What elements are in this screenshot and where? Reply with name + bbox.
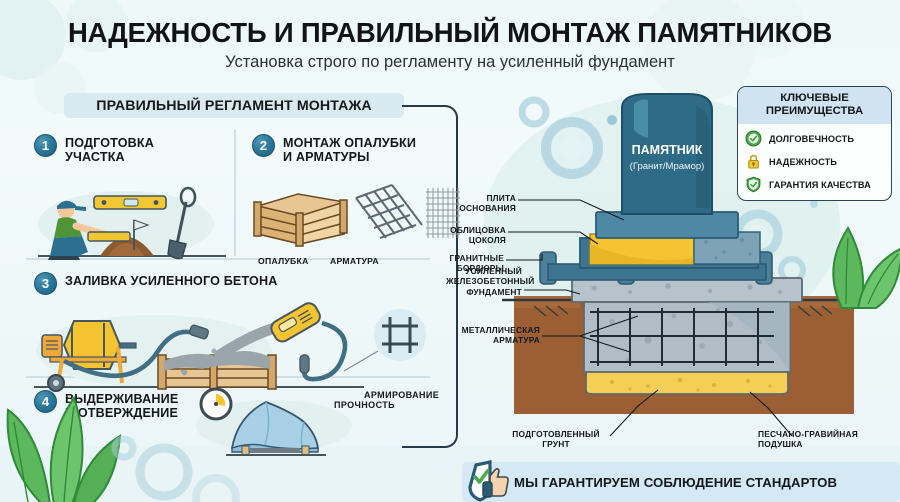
- step-2-caption-1: АРМАТУРА: [330, 256, 379, 266]
- shield-thumbsup-icon: [466, 460, 512, 502]
- left-panel: ПРАВИЛЬНЫЙ РЕГЛАМЕНТ МОНТАЖА 1 ПОДГОТОВК…: [12, 86, 460, 486]
- step-3-head: 3 ЗАЛИВКА УСИЛЕННОГО БЕТОНА: [34, 272, 434, 295]
- step-2-title: МОНТАЖ ОПАЛУБКИ И АРМАТУРЫ: [283, 134, 416, 164]
- left-panel-header: ПРАВИЛЬНЫЙ РЕГЛАМЕНТ МОНТАЖА: [64, 93, 404, 118]
- guarantee-banner: МЫ ГАРАНТИРУЕМ СОБЛЮДЕНИЕ СТАНДАРТОВ: [462, 462, 900, 502]
- lock-icon: [745, 153, 762, 170]
- benefit-item-quality-guarantee: ГАРАНТИЯ КАЧЕСТВА: [745, 176, 884, 193]
- guarantee-banner-text: МЫ ГАРАНТИРУЕМ СОБЛЮДЕНИЕ СТАНДАРТОВ: [514, 475, 837, 490]
- key-benefits-list: ДОЛГОВЕЧНОСТЬ НАДЕЖНОСТЬ: [738, 124, 891, 200]
- check-circle-icon: [745, 130, 762, 147]
- benefit-label-durability: ДОЛГОВЕЧНОСТЬ: [769, 134, 854, 144]
- shield-check-icon: [745, 176, 762, 193]
- step-1-illustration: [34, 170, 230, 262]
- monument-label: ПАМЯТНИК: [632, 143, 703, 157]
- callout-prepared-soil: ПОДГОТОВЛЕННЫЙ ГРУНТ: [506, 429, 606, 450]
- step-2: 2 МОНТАЖ ОПАЛУБКИ И АРМАТУРЫ: [252, 134, 452, 250]
- callout-plinth-cladding: ОБЛИЦОВКА ЦОКОЛЯ: [446, 225, 506, 246]
- step-1-badge: 1: [34, 134, 57, 157]
- key-benefits-heading: КЛЮЧЕВЫЕ ПРЕИМУЩЕСТВА: [738, 87, 891, 124]
- step-1-title: ПОДГОТОВКА УЧАСТКА: [65, 134, 154, 164]
- step-4-caption-0: ПРОЧНОСТЬ: [334, 400, 395, 410]
- leaves-decor-right: [808, 204, 900, 324]
- key-benefits-box: КЛЮЧЕВЫЕ ПРЕИМУЩЕСТВА ДОЛГОВЕЧНОСТЬ: [737, 86, 892, 201]
- right-panel: ПАМЯТНИК (Гранит/Мрамор) ПЛИТА ОСНОВАНИЯ…: [462, 84, 900, 459]
- monument-material: (Гранит/Мрамор): [630, 161, 705, 172]
- benefit-label-quality-guarantee: ГАРАНТИЯ КАЧЕСТВА: [769, 180, 871, 190]
- callout-metal-rebar: МЕТАЛЛИЧЕСКАЯ АРМАТУРА: [440, 325, 540, 346]
- page-title: НАДЕЖНОСТЬ И ПРАВИЛЬНЫЙ МОНТАЖ ПАМЯТНИКО…: [0, 17, 900, 49]
- step-2-illustration: [252, 172, 452, 250]
- step-2-badge: 2: [252, 134, 275, 157]
- step-2-head: 2 МОНТАЖ ОПАЛУБКИ И АРМАТУРЫ: [252, 134, 452, 164]
- callout-sand-gravel-cushion: ПЕСЧАНО-ГРАВИЙНАЯ ПОДУШКА: [758, 429, 888, 450]
- callout-base-plate: ПЛИТА ОСНОВАНИЯ: [458, 193, 516, 214]
- step-2-caption-0: ОПАЛУБКА: [258, 256, 309, 266]
- step-1-head: 1 ПОДГОТОВКА УЧАСТКА: [34, 134, 230, 164]
- step-3-title: ЗАЛИВКА УСИЛЕННОГО БЕТОНА: [65, 272, 277, 289]
- infographic-root: НАДЕЖНОСТЬ И ПРАВИЛЬНЫЙ МОНТАЖ ПАМЯТНИКО…: [0, 0, 900, 502]
- gears-decor-left: [98, 402, 238, 502]
- benefit-item-durability: ДОЛГОВЕЧНОСТЬ: [745, 130, 884, 147]
- step-1: 1 ПОДГОТОВКА УЧАСТКА: [34, 134, 230, 262]
- divider-vertical: [234, 130, 236, 256]
- benefit-item-reliability: НАДЕЖНОСТЬ: [745, 153, 884, 170]
- step-3-badge: 3: [34, 272, 57, 295]
- callout-reinforced-foundation: УСИЛЕННЫЙ ЖЕЛЕЗОБЕТОННЫЙ ФУНДАМЕНТ: [446, 266, 522, 297]
- page-subtitle: Установка строго по регламенту на усилен…: [0, 53, 900, 72]
- benefit-label-reliability: НАДЕЖНОСТЬ: [769, 157, 837, 167]
